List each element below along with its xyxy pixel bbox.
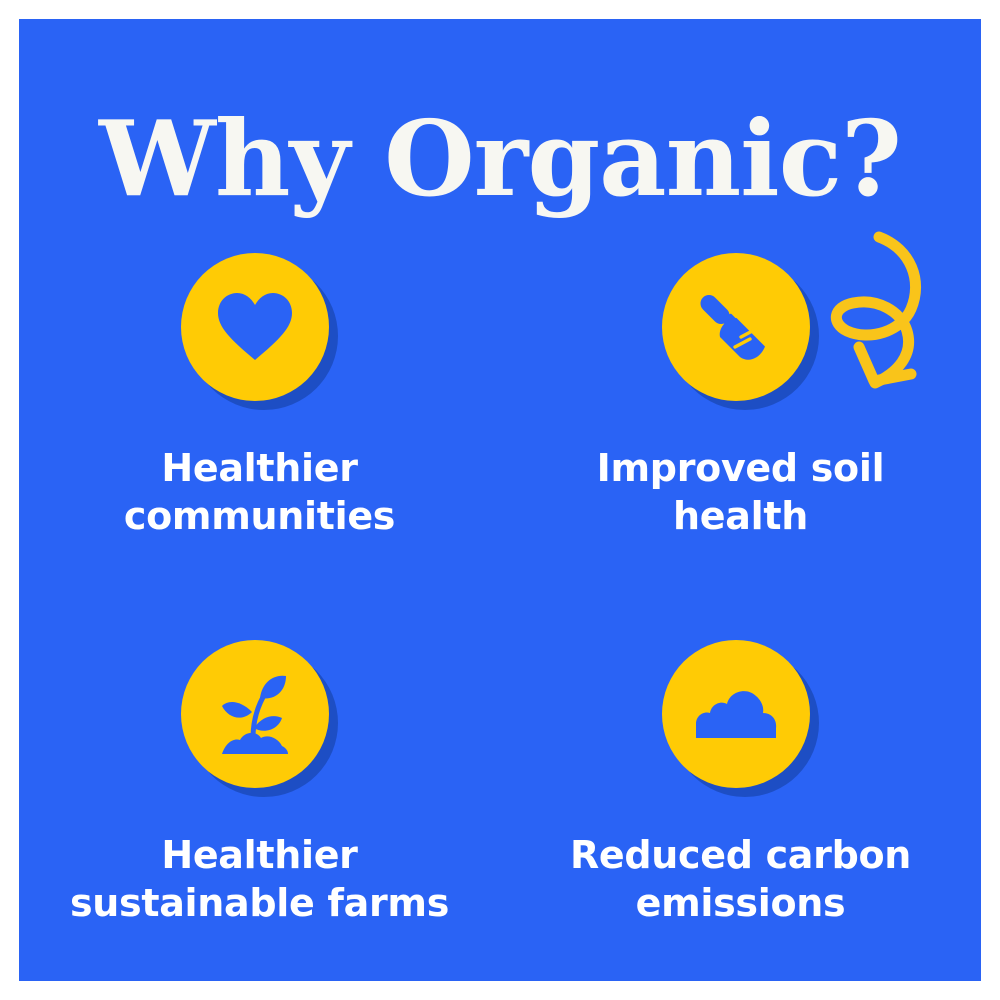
- icon-badge: [662, 253, 820, 411]
- benefits-grid: Healthier communities: [19, 253, 981, 927]
- icon-badge: [181, 640, 339, 798]
- benefit-label: Improved soil health: [597, 445, 885, 540]
- benefit-item-improved-soil-health: Improved soil health: [500, 253, 981, 540]
- seedling-icon: [216, 672, 294, 756]
- benefit-label: Reduced carbon emissions: [570, 832, 911, 927]
- benefit-label: Healthier sustainable farms: [70, 832, 449, 927]
- badge-disc: [662, 640, 810, 788]
- icon-badge: [181, 253, 339, 411]
- icon-badge: [662, 640, 820, 798]
- page-title: Why Organic?: [19, 107, 981, 211]
- benefit-item-healthier-communities: Healthier communities: [19, 253, 500, 540]
- heart-icon: [216, 291, 294, 363]
- badge-disc: [181, 640, 329, 788]
- badge-disc: [181, 253, 329, 401]
- trowel-icon: [696, 287, 776, 367]
- benefit-label: Healthier communities: [124, 445, 395, 540]
- cloud-icon: [692, 686, 780, 742]
- benefit-item-healthier-sustainable-farms: Healthier sustainable farms: [19, 640, 500, 927]
- badge-disc: [662, 253, 810, 401]
- poster-canvas: Why Organic? Healthier communities: [19, 19, 981, 981]
- benefit-item-reduced-carbon-emissions: Reduced carbon emissions: [500, 640, 981, 927]
